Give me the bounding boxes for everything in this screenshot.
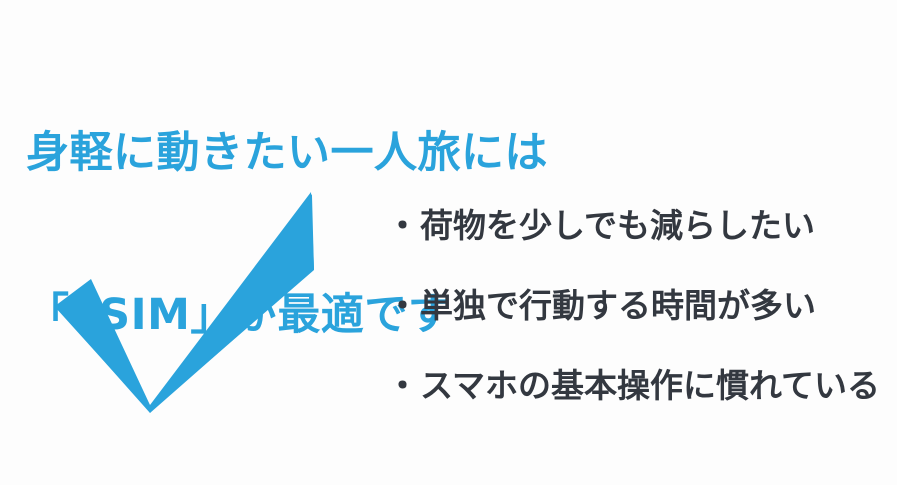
page-title-line-1: 身軽に動きたい一人旅には: [26, 126, 866, 180]
check-icon-shape-solid: [55, 192, 314, 413]
list-item: ・ 単独で行動する時間が多い: [386, 266, 886, 346]
slide-canvas: 身軽に動きたい一人旅には 「eSIM」が最適です ・ 荷物を少しでも減らしたい …: [0, 0, 897, 485]
list-item-label: 荷物を少しでも減らしたい: [420, 186, 815, 266]
list-item: ・ 荷物を少しでも減らしたい: [386, 186, 886, 266]
bullet-marker-icon: ・: [386, 266, 419, 346]
check-icon: [40, 180, 330, 430]
list-item-label: スマホの基本操作に慣れている: [420, 346, 880, 426]
check-mark-graphic: [40, 180, 330, 430]
bullet-list: ・ 荷物を少しでも減らしたい ・ 単独で行動する時間が多い ・ スマホの基本操作…: [386, 186, 886, 426]
bullet-marker-icon: ・: [386, 186, 419, 266]
list-item: ・ スマホの基本操作に慣れている: [386, 346, 886, 426]
list-item-label: 単独で行動する時間が多い: [420, 266, 816, 346]
bullet-marker-icon: ・: [386, 346, 419, 426]
